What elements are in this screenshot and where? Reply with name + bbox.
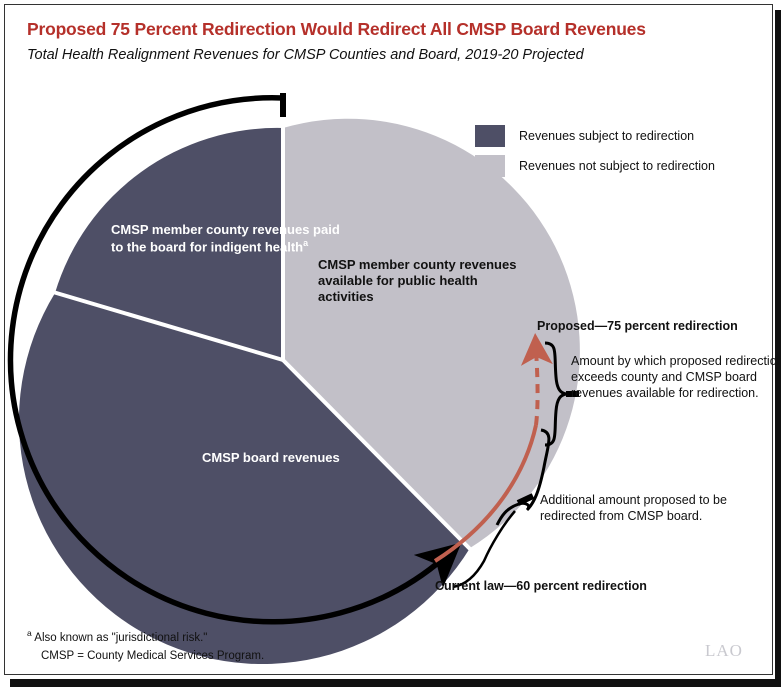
annotation-current-law: Current law—60 percent redirection — [435, 578, 647, 594]
footnote-abbreviation: CMSP = County Medical Services Program. — [41, 648, 264, 666]
lao-logo: LAO — [705, 641, 743, 661]
legend-item-not-subject: Revenues not subject to redirection — [475, 155, 715, 177]
legend: Revenues subject to redirection Revenues… — [475, 125, 715, 185]
footnote-a-marker: a — [27, 628, 32, 638]
pie-label-county-paid-superscript: a — [303, 238, 308, 248]
annotation-proposed-heading: Proposed—75 percent redirection — [537, 318, 738, 334]
legend-label-not-subject: Revenues not subject to redirection — [519, 159, 715, 173]
annotation-excess-amount: Amount by which proposed redirection exc… — [571, 353, 781, 401]
pie-label-county-paid: CMSP member county revenues paid to the … — [111, 222, 341, 256]
footnote-a: a Also known as "jurisdictional risk." — [27, 627, 264, 648]
pie-label-public-health: CMSP member county revenues available fo… — [318, 257, 518, 305]
chart-page: Revenues subject to redirection Revenues… — [0, 0, 781, 687]
page-title: Proposed 75 Percent Redirection Would Re… — [27, 19, 646, 40]
legend-label-subject: Revenues subject to redirection — [519, 129, 694, 143]
legend-swatch-subject — [475, 125, 505, 147]
legend-item-subject: Revenues subject to redirection — [475, 125, 715, 147]
pie-label-board-revenues: CMSP board revenues — [202, 450, 340, 466]
page-subtitle: Total Health Realignment Revenues for CM… — [27, 47, 584, 63]
footnote-a-text: Also known as "jurisdictional risk." — [34, 632, 207, 644]
chart-frame: Revenues subject to redirection Revenues… — [4, 4, 773, 675]
pie-chart-graphic — [5, 5, 781, 687]
legend-swatch-not-subject — [475, 155, 505, 177]
footnotes: a Also known as "jurisdictional risk." C… — [27, 627, 264, 665]
annotation-additional-amount: Additional amount proposed to be redirec… — [540, 492, 780, 524]
